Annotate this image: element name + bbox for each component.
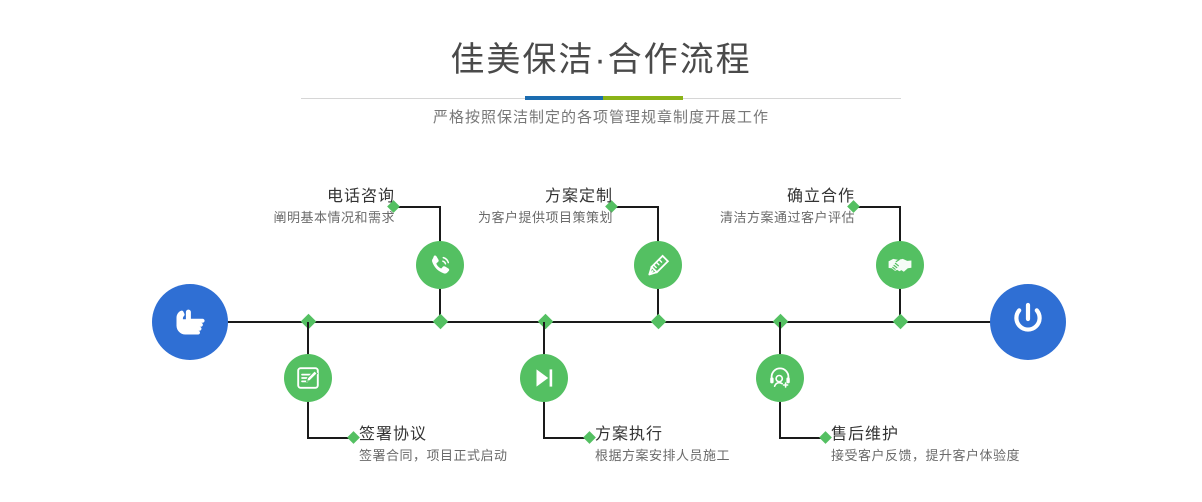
flow-start-endpoint[interactable] xyxy=(152,284,228,360)
step-icon-badge[interactable] xyxy=(634,241,682,289)
play-next-icon xyxy=(531,365,557,391)
flow-end-endpoint[interactable] xyxy=(990,284,1066,360)
caption-marker xyxy=(347,431,360,444)
cooperation-flow-infographic: 佳美保洁·合作流程 严格按照保洁制定的各项管理规章制度开展工作 xyxy=(0,0,1202,502)
handshake-icon xyxy=(886,251,914,279)
axis-marker xyxy=(538,314,554,330)
customer-service-icon xyxy=(767,365,793,391)
step-icon-badge[interactable] xyxy=(876,241,924,289)
step-desc: 清洁方案通过客户评估 xyxy=(585,208,855,228)
step-icon-badge[interactable] xyxy=(756,354,804,402)
step-title: 售后维护 xyxy=(831,424,1151,446)
connector-horizontal xyxy=(855,206,901,208)
step-caption: 售后维护 接受客户反馈，提升客户体验度 xyxy=(831,424,1151,466)
pencil-ruler-icon xyxy=(645,252,672,279)
axis-marker xyxy=(433,314,449,330)
step-icon-badge[interactable] xyxy=(520,354,568,402)
step-icon-badge[interactable] xyxy=(416,241,464,289)
pointing-hand-icon xyxy=(170,300,210,345)
step-caption: 方案定制 为客户提供项目策策划 xyxy=(343,186,613,228)
document-edit-icon xyxy=(295,365,321,391)
axis-marker xyxy=(651,314,667,330)
phone-call-icon xyxy=(426,251,454,279)
axis-marker xyxy=(893,314,909,330)
step-desc: 为客户提供项目策策划 xyxy=(343,208,613,228)
step-desc: 接受客户反馈，提升客户体验度 xyxy=(831,446,1151,466)
power-icon xyxy=(1007,299,1049,346)
step-icon-badge[interactable] xyxy=(284,354,332,402)
flow-diagram: 电话咨询 阐明基本情况和需求 签署协议 签署合同， xyxy=(0,0,1202,502)
step-title: 确立合作 xyxy=(585,186,855,208)
step-title: 方案定制 xyxy=(343,186,613,208)
step-caption: 确立合作 清洁方案通过客户评估 xyxy=(585,186,855,228)
